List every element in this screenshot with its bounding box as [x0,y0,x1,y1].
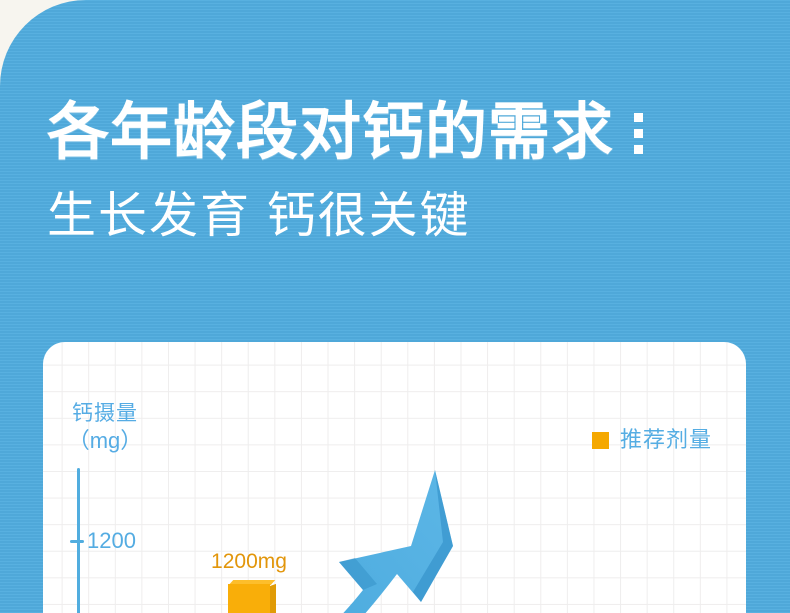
blue-banner: 各年龄段对钙的需求 生长发育 钙很关键 钙摄量 （mg） 1200 推荐剂量 [0,0,790,613]
bar-value-label: 1200mg [211,551,287,572]
chart-card: 钙摄量 （mg） 1200 推荐剂量 [43,342,746,613]
dot-1 [634,113,643,122]
legend-swatch-icon [592,432,609,449]
y-axis-label: 钙摄量 （mg） [55,400,155,454]
tick-mark-icon [70,540,84,543]
chart-legend: 推荐剂量 [592,429,712,451]
y-axis-label-text: 钙摄量 [72,402,138,425]
heading-row: 各年龄段对钙的需求 [47,96,643,170]
growth-arrow-icon [293,454,483,613]
page-title: 各年龄段对钙的需求 [47,96,614,170]
bar-front-face [228,584,270,613]
decorative-dots-icon [634,113,643,154]
tick-label: 1200 [87,530,136,552]
page-subtitle: 生长发育 钙很关键 [47,186,643,246]
legend-label: 推荐剂量 [620,429,712,451]
title-block: 各年龄段对钙的需求 生长发育 钙很关键 [47,96,643,246]
y-axis-unit-text: （mg） [55,427,155,454]
bar-side-face [270,584,276,613]
y-axis-tick-1200: 1200 [70,530,136,552]
bar-item: 1200mg [228,584,270,613]
dot-3 [634,145,643,154]
dot-2 [634,129,643,138]
